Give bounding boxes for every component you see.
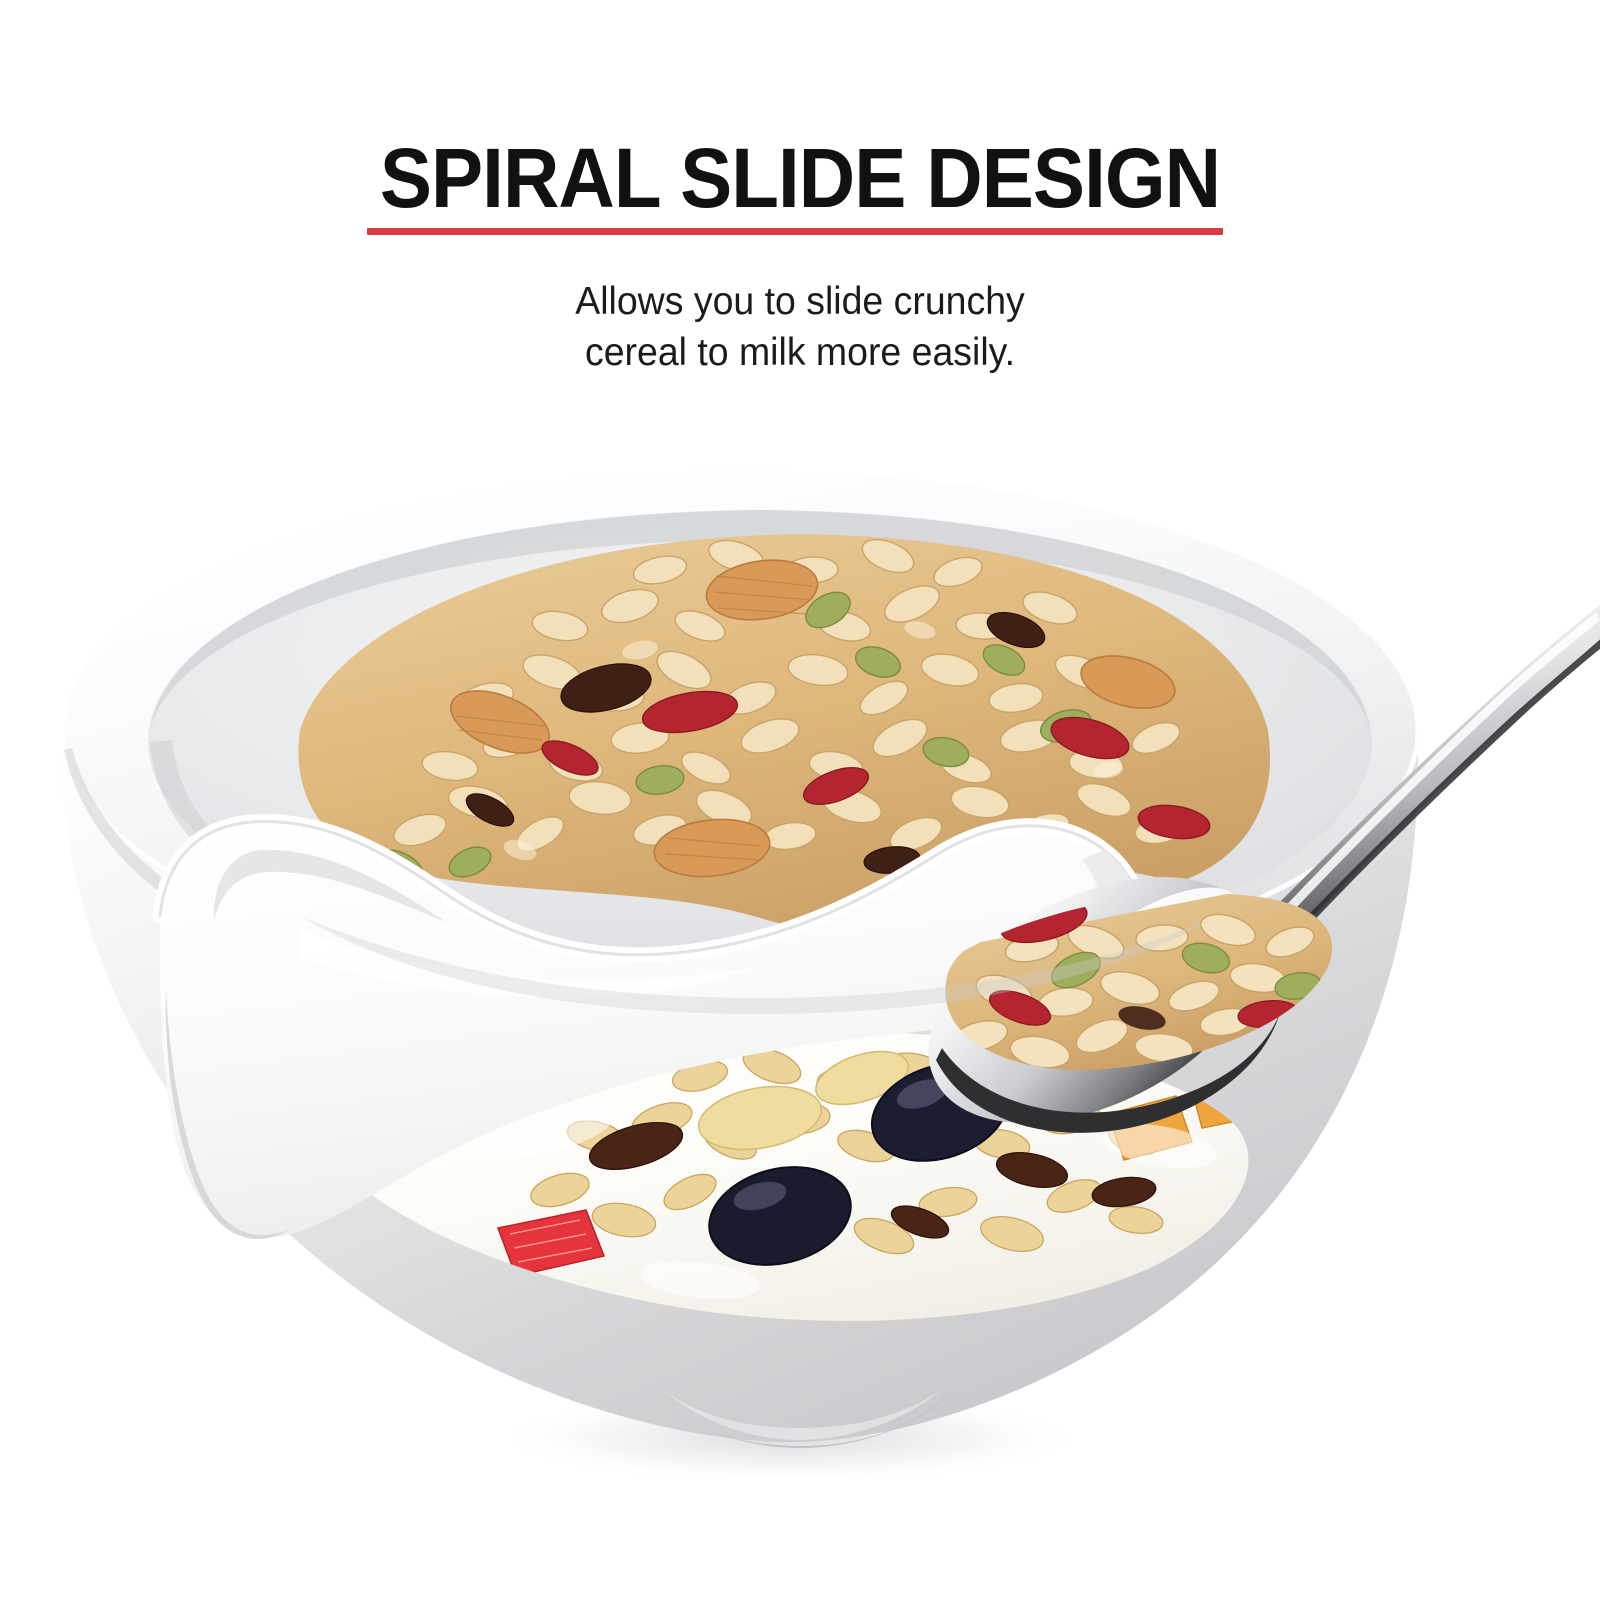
title-underline-rule <box>367 228 1223 235</box>
page-subtitle: Allows you to slide crunchy cereal to mi… <box>32 276 1568 378</box>
header: SPIRAL SLIDE DESIGN Allows you to slide … <box>0 0 1600 420</box>
page-title: SPIRAL SLIDE DESIGN <box>56 132 1544 224</box>
product-image <box>0 430 1600 1540</box>
cereal-bowl-illustration <box>0 430 1600 1540</box>
